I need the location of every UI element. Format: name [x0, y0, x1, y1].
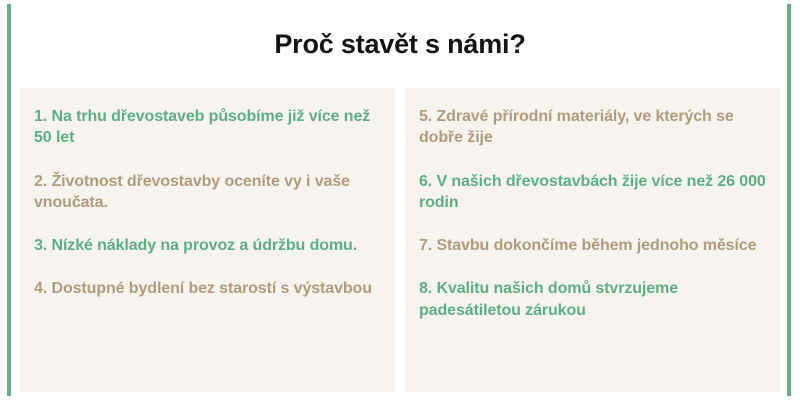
right-edge-rule [787, 4, 791, 396]
left-edge-rule [7, 4, 11, 396]
page-title: Proč stavět s námi? [274, 31, 525, 58]
benefit-item-5: 5. Zdravé přírodní materiály, ve kterých… [419, 106, 766, 149]
benefit-item-6: 6. V našich dřevostavbách žije více než … [419, 171, 766, 214]
benefit-item-4: 4. Dostupné bydlení bez starostí s výsta… [34, 278, 381, 299]
benefits-columns: 1. Na trhu dřevostaveb působíme již více… [20, 88, 780, 392]
title-bar: Proč stavět s námi? [20, 0, 780, 88]
benefit-item-3: 3. Nízké náklady na provoz a údržbu domu… [34, 235, 381, 256]
benefit-item-2: 2. Životnost dřevostavby oceníte vy i va… [34, 171, 381, 214]
benefit-item-1: 1. Na trhu dřevostaveb působíme již více… [34, 106, 381, 149]
left-column: 1. Na trhu dřevostaveb působíme již více… [20, 88, 395, 392]
benefit-item-7: 7. Stavbu dokončíme během jednoho měsíce [419, 235, 766, 256]
page-root: Proč stavět s námi? 1. Na trhu dřevostav… [0, 0, 800, 402]
benefit-item-8: 8. Kvalitu našich domů stvrzujeme padesá… [419, 278, 766, 321]
right-column: 5. Zdravé přírodní materiály, ve kterých… [405, 88, 780, 392]
